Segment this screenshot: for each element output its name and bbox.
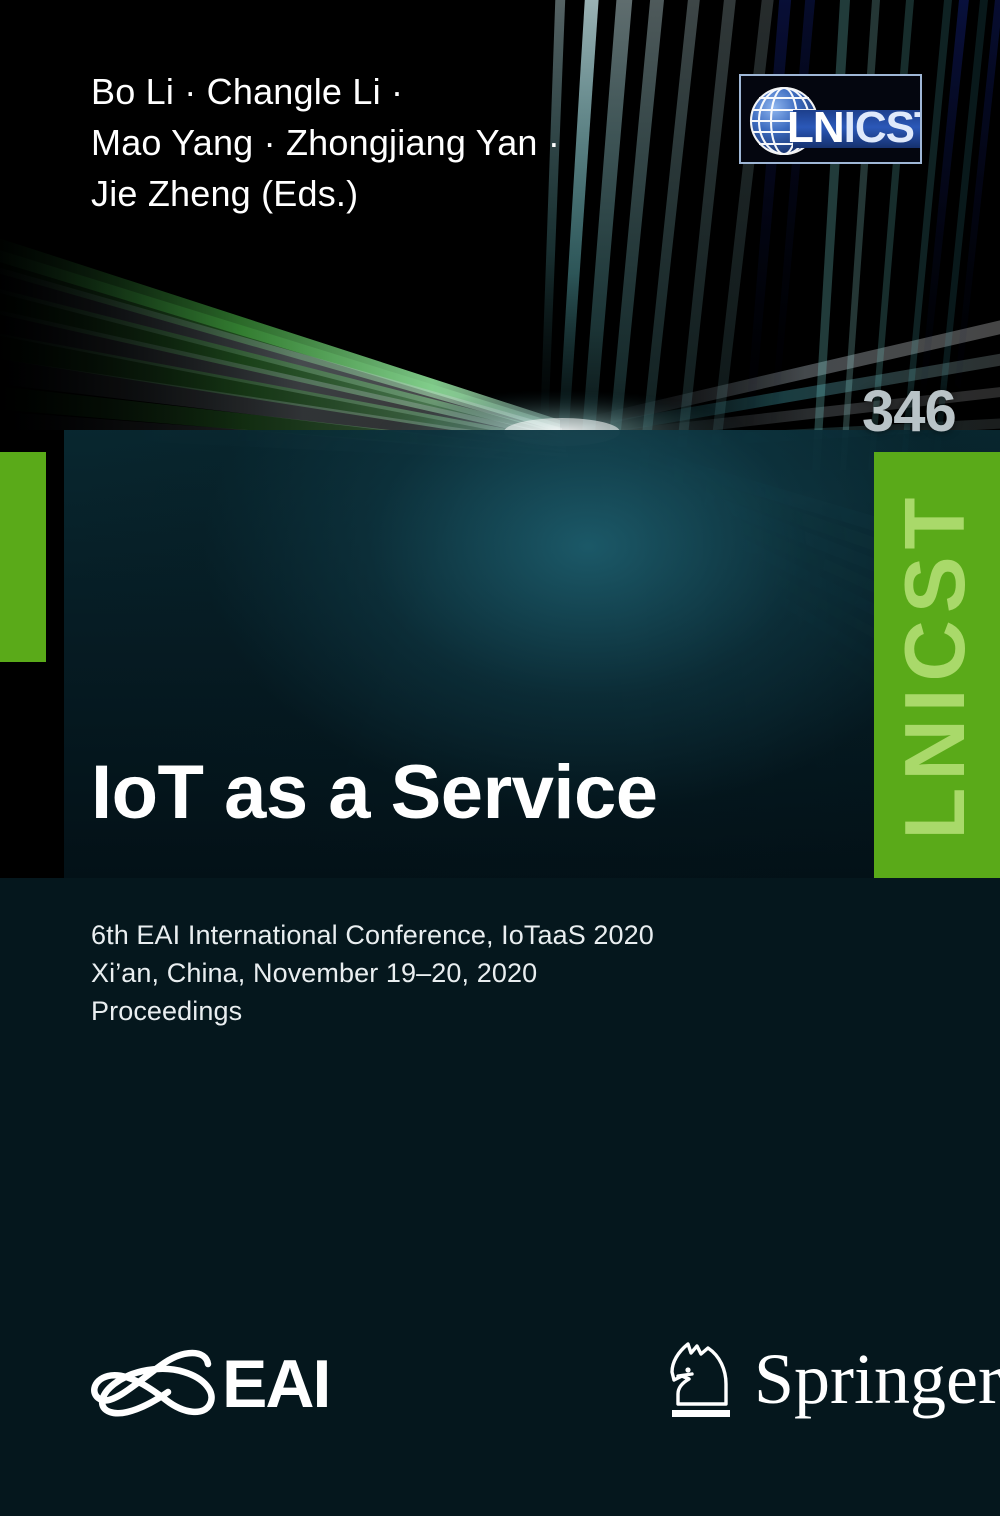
green-spine-strip: LNICST — [874, 452, 1000, 878]
lnicst-logo-prefix: LN — [787, 106, 844, 150]
green-accent-block-left — [0, 452, 46, 662]
conference-name: 6th EAI International Conference, IoTaaS… — [91, 916, 654, 954]
spine-series-label: LNICST — [874, 452, 1000, 878]
volume-number: 346 — [862, 378, 956, 445]
book-cover: LNICST Bo Li · Changle Li · Mao Yang · Z… — [0, 0, 1000, 1516]
conference-details: 6th EAI International Conference, IoTaaS… — [91, 916, 654, 1030]
eai-wordmark: EAI — [222, 1350, 329, 1418]
editors-list: Bo Li · Changle Li · Mao Yang · Zhongjia… — [91, 66, 731, 219]
book-title: IoT as a Service — [91, 753, 658, 833]
springer-wordmark: Springer — [754, 1343, 1000, 1415]
eai-logo: EAI — [88, 1336, 348, 1432]
lnicst-series-logo: LNICST — [739, 74, 922, 164]
knight-chess-piece-icon — [660, 1332, 740, 1432]
conference-location-date: Xi’an, China, November 19–20, 2020 — [91, 954, 654, 992]
springer-logo: Springer — [660, 1330, 930, 1434]
lnicst-logo-suffix: ICST — [844, 106, 922, 150]
publication-type: Proceedings — [91, 992, 654, 1030]
infinity-loop-icon — [88, 1342, 218, 1426]
lnicst-logo-wordmark: LNICST — [787, 101, 922, 155]
artwork-left-black-notch — [0, 662, 64, 878]
